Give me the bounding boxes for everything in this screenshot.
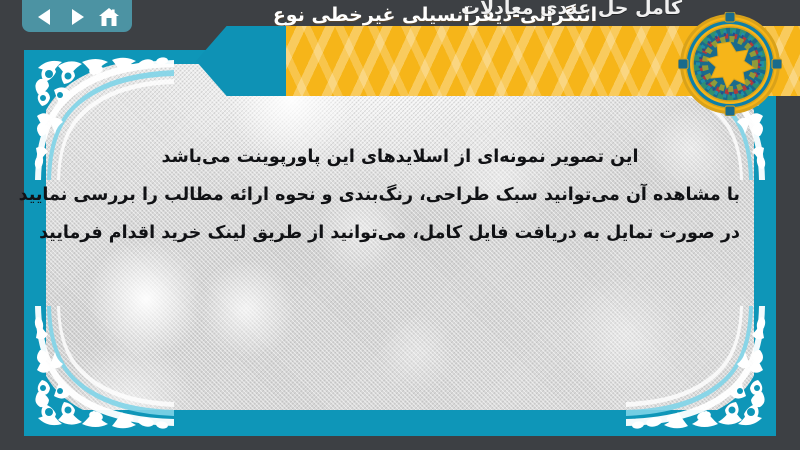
circular-medallion-icon bbox=[678, 12, 782, 116]
slide-root: کامل حل عددی معادلات انتگرالی-دیفرانسیلی… bbox=[0, 0, 800, 450]
body-line-1: این تصویر نمونه‌ای از اسلایدهای این پاور… bbox=[60, 138, 740, 176]
navigation-bar[interactable] bbox=[22, 0, 132, 32]
body-text: این تصویر نمونه‌ای از اسلایدهای این پاور… bbox=[60, 138, 740, 252]
home-icon[interactable] bbox=[98, 7, 120, 27]
bokeh-blob bbox=[566, 274, 686, 394]
triangle-right-icon[interactable] bbox=[66, 7, 88, 27]
right-accent-bar bbox=[754, 96, 776, 436]
triangle-left-icon[interactable] bbox=[34, 7, 56, 27]
bokeh-blob bbox=[196, 259, 296, 359]
bokeh-blob bbox=[376, 314, 456, 394]
body-line-3: در صورت تمایل به دریافت فایل کامل، می‌تو… bbox=[60, 214, 740, 252]
body-line-2: با مشاهده آن می‌توانید سبک طراحی، رنگ‌بن… bbox=[60, 176, 740, 214]
page-title: کامل حل عددی معادلات bbox=[461, 0, 682, 19]
